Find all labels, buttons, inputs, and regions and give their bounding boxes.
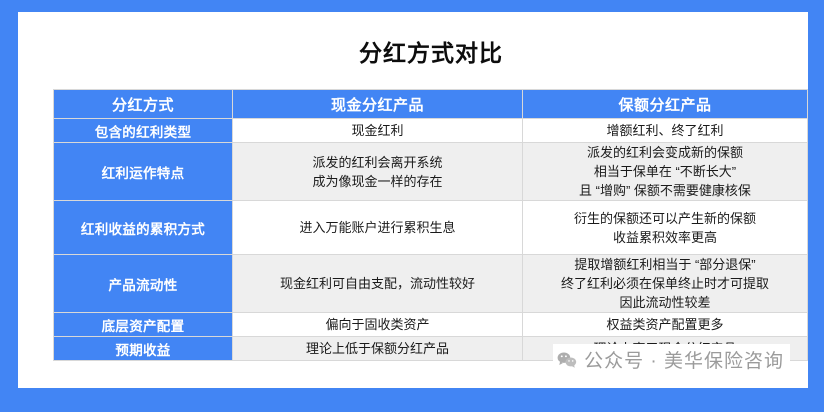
row-sum-assured-cell: 权益类资产配置更多 (523, 313, 808, 337)
row-cash-cell: 现金红利可自由支配，流动性较好 (233, 255, 523, 313)
table-row: 包含的红利类型 现金红利 增额红利、终了红利 (53, 119, 808, 143)
row-label: 红利运作特点 (53, 143, 233, 201)
row-cash-cell: 偏向于固收类资产 (233, 313, 523, 337)
cell-line: 因此流动性较差 (523, 293, 807, 312)
column-header-sum-assured-dividend-product: 保额分红产品 (523, 89, 808, 119)
table-row: 产品流动性 现金红利可自由支配，流动性较好 提取增额红利相当于 “部分退保” 终… (53, 255, 808, 313)
table-row: 红利运作特点 派发的红利会离开系统 成为像现金一样的存在 派发的红利会变成新的保… (53, 143, 808, 201)
cell-line: 派发的红利会离开系统 (233, 153, 522, 172)
cell-line: 现金红利可自由支配，流动性较好 (233, 274, 522, 293)
row-label: 红利收益的累积方式 (53, 201, 233, 255)
cell-line: 进入万能账户进行累积生息 (233, 218, 522, 237)
row-sum-assured-cell: 提取增额红利相当于 “部分退保” 终了红利必须在保单终止时才可提取 因此流动性较… (523, 255, 808, 313)
table-header-row: 分红方式 现金分红产品 保额分红产品 (53, 89, 808, 119)
cell-line: 提取增额红利相当于 “部分退保” (523, 255, 807, 274)
cell-line: 派发的红利会变成新的保额 (523, 143, 807, 162)
row-label: 产品流动性 (53, 255, 233, 313)
cell-line: 理论上低于保额分红产品 (233, 339, 522, 358)
cell-line: 成为像现金一样的存在 (233, 172, 522, 191)
cell-line: 偏向于固收类资产 (233, 315, 522, 334)
cell-line: 衍生的保额还可以产生新的保额 (523, 209, 807, 228)
column-header-dividend-method: 分红方式 (53, 89, 233, 119)
cell-line: 增额红利、终了红利 (523, 121, 807, 140)
comparison-table: 分红方式 现金分红产品 保额分红产品 包含的红利类型 现金红利 增额红利、终了红… (53, 89, 808, 361)
cell-line: 收益累积效率更高 (523, 228, 807, 247)
content-canvas: 天眼保 天眼保 分红方式对比 分红方式 现金分红产品 保额分红产品 (18, 12, 808, 388)
row-cash-cell: 进入万能账户进行累积生息 (233, 201, 523, 255)
column-header-cash-dividend-product: 现金分红产品 (233, 89, 523, 119)
row-sum-assured-cell: 派发的红利会变成新的保额 相当于保单在 “不断长大” 且 “增购” 保额不需要健… (523, 143, 808, 201)
row-label: 底层资产配置 (53, 313, 233, 337)
comparison-table-wrapper: 分红方式 现金分红产品 保额分红产品 包含的红利类型 现金红利 增额红利、终了红… (53, 89, 808, 361)
row-cash-cell: 派发的红利会离开系统 成为像现金一样的存在 (233, 143, 523, 201)
row-sum-assured-cell: 衍生的保额还可以产生新的保额 收益累积效率更高 (523, 201, 808, 255)
row-cash-cell: 现金红利 (233, 119, 523, 143)
cell-line: 权益类资产配置更多 (523, 315, 807, 334)
cell-line: 相当于保单在 “不断长大” (523, 162, 807, 181)
cell-line: 终了红利必须在保单终止时才可提取 (523, 274, 807, 293)
table-row: 底层资产配置 偏向于固收类资产 权益类资产配置更多 (53, 313, 808, 337)
cell-line: 且 “增购” 保额不需要健康核保 (523, 181, 807, 200)
row-sum-assured-cell: 增额红利、终了红利 (523, 119, 808, 143)
row-cash-cell: 理论上低于保额分红产品 (233, 337, 523, 361)
row-label: 包含的红利类型 (53, 119, 233, 143)
cell-line: 现金红利 (233, 121, 522, 140)
footer-text: 公众号 · 美华保险咨询 (584, 346, 784, 373)
wechat-icon (557, 351, 577, 369)
footer-attribution: 公众号 · 美华保险咨询 (553, 344, 790, 375)
outer-blue-frame: 天眼保 天眼保 分红方式对比 分红方式 现金分红产品 保额分红产品 (0, 0, 824, 412)
table-row: 红利收益的累积方式 进入万能账户进行累积生息 衍生的保额还可以产生新的保额 收益… (53, 201, 808, 255)
page-title: 分红方式对比 (36, 34, 824, 68)
row-label: 预期收益 (53, 337, 233, 361)
